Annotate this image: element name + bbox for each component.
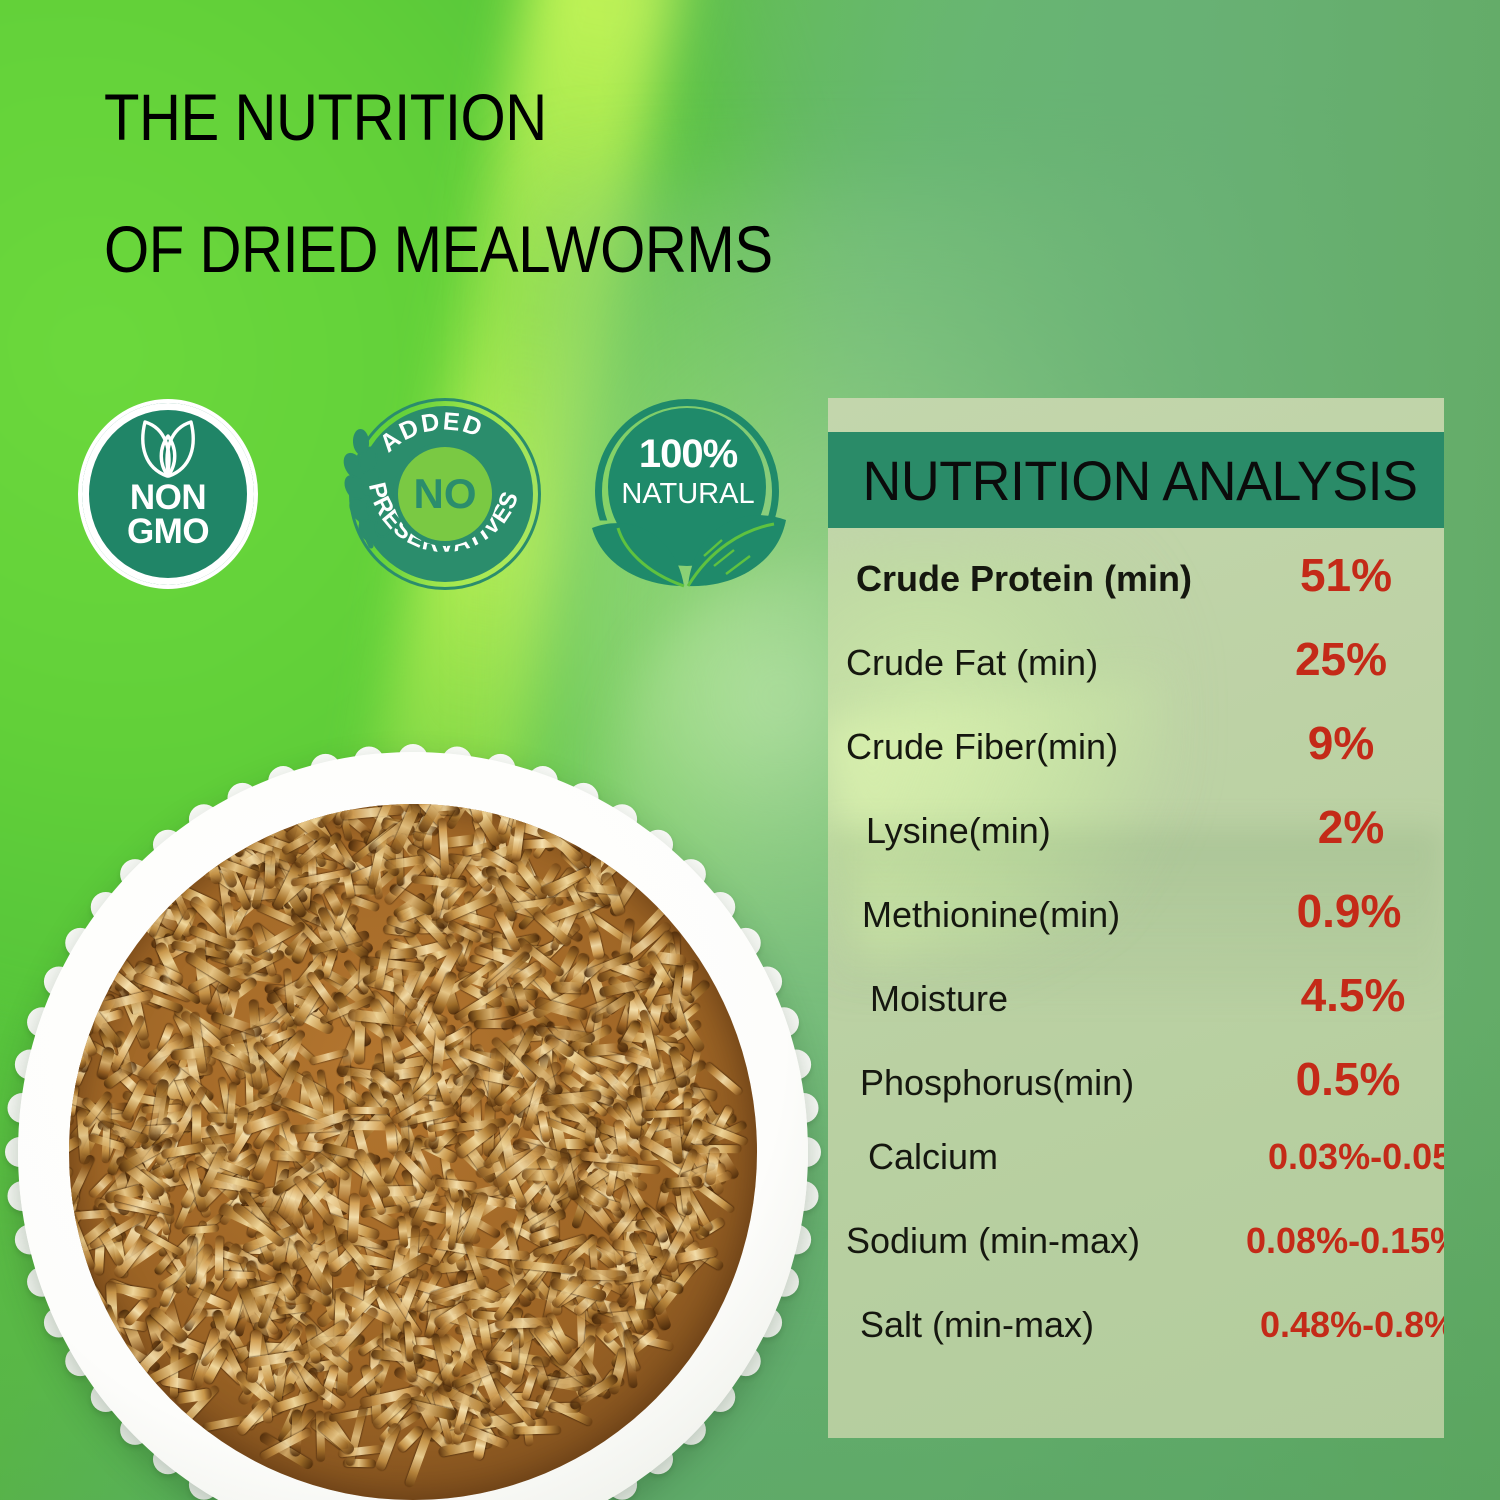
nutrition-row-label: Lysine(min) bbox=[846, 810, 1266, 852]
nutrition-row: Sodium (min-max)0.08%-0.15% bbox=[828, 1220, 1444, 1304]
mealworm bbox=[576, 1269, 626, 1280]
nutrition-row: Salt (min-max)0.48%-0.8% bbox=[828, 1304, 1444, 1388]
nutrition-row-value: 0.48%-0.8% bbox=[1260, 1304, 1444, 1346]
mealworm bbox=[474, 1019, 516, 1027]
nutrition-row-label: Crude Fiber(min) bbox=[846, 726, 1246, 768]
nutrition-row-label: Crude Protein (min) bbox=[846, 558, 1256, 600]
panel-header-band: NUTRITION ANALYSIS bbox=[828, 432, 1444, 528]
nutrition-row-value: 25% bbox=[1246, 632, 1436, 686]
nutrition-row: Calcium0.03%-0.05% bbox=[828, 1136, 1444, 1220]
nutrition-row-label: Methionine(min) bbox=[846, 894, 1262, 936]
nutrition-row-value: 0.9% bbox=[1262, 884, 1436, 938]
nutrition-row: Phosphorus(min)0.5% bbox=[828, 1052, 1444, 1136]
panel-title: NUTRITION ANALYSIS bbox=[828, 448, 1418, 513]
badge-no-added-preservatives: ADDED PRESERVATIVES NO bbox=[327, 396, 549, 592]
mealworm bbox=[513, 1425, 561, 1434]
badge-non-gmo-line-2: GMO bbox=[78, 515, 258, 549]
nutrition-row: Lysine(min)2% bbox=[828, 800, 1444, 884]
nutrition-row-value: 4.5% bbox=[1270, 968, 1436, 1022]
mealworm bbox=[587, 928, 605, 960]
nutrition-row-label: Sodium (min-max) bbox=[846, 1220, 1246, 1262]
nutrition-row-label: Salt (min-max) bbox=[846, 1304, 1260, 1346]
mealworm bbox=[270, 1150, 307, 1162]
nutrition-row: Crude Fiber(min)9% bbox=[828, 716, 1444, 800]
nutrition-row: Crude Protein (min)51% bbox=[828, 548, 1444, 632]
nutrition-row-label: Moisture bbox=[846, 978, 1270, 1020]
nutrition-analysis-panel: NUTRITION ANALYSIS Crude Protein (min)51… bbox=[828, 398, 1444, 1438]
mealworm bbox=[265, 850, 276, 888]
dried-mealworms bbox=[69, 804, 756, 1500]
nutrition-row-value: 2% bbox=[1266, 800, 1436, 854]
badge-100-natural: 100% NATURAL bbox=[590, 408, 786, 586]
mealworm bbox=[69, 1156, 73, 1179]
nutrition-row: Moisture4.5% bbox=[828, 968, 1444, 1052]
badge-non-gmo: NON GMO bbox=[78, 399, 258, 589]
nutrition-row-value: 0.5% bbox=[1260, 1052, 1436, 1106]
mealworm bbox=[215, 1235, 224, 1280]
nutrition-row-value: 0.08%-0.15% bbox=[1246, 1220, 1444, 1262]
bowl-contents bbox=[69, 804, 756, 1500]
nutrition-table: Crude Protein (min)51%Crude Fat (min)25%… bbox=[828, 548, 1444, 1388]
nutrition-row-label: Crude Fat (min) bbox=[846, 642, 1246, 684]
mealworm bbox=[551, 981, 589, 993]
leaf-pair-icon bbox=[129, 416, 207, 478]
badge-natural-line-1: 100% bbox=[590, 432, 786, 477]
nutrition-row-value: 0.03%-0.05% bbox=[1268, 1136, 1444, 1178]
product-photo-mealworm-bowl bbox=[18, 752, 808, 1500]
badge-non-gmo-line-1: NON bbox=[78, 481, 258, 515]
nutrition-row-label: Calcium bbox=[846, 1136, 1268, 1178]
mealworm bbox=[435, 1179, 477, 1191]
nutrition-row: Crude Fat (min)25% bbox=[828, 632, 1444, 716]
mealworm bbox=[522, 1170, 558, 1182]
mealworm bbox=[220, 1270, 256, 1279]
nutrition-row: Methionine(min)0.9% bbox=[828, 884, 1444, 968]
two-leaves-icon bbox=[584, 494, 790, 595]
nutrition-row-value: 51% bbox=[1256, 548, 1436, 602]
badge-non-gmo-label: NON GMO bbox=[78, 481, 258, 548]
badge-preservatives-center-label: NO bbox=[393, 442, 497, 546]
nutrition-row-value: 9% bbox=[1246, 716, 1436, 770]
nutrition-infographic: THE NUTRITION OF DRIED MEALWORMS NON GMO bbox=[0, 0, 1500, 1500]
nutrition-row-label: Phosphorus(min) bbox=[846, 1062, 1260, 1104]
